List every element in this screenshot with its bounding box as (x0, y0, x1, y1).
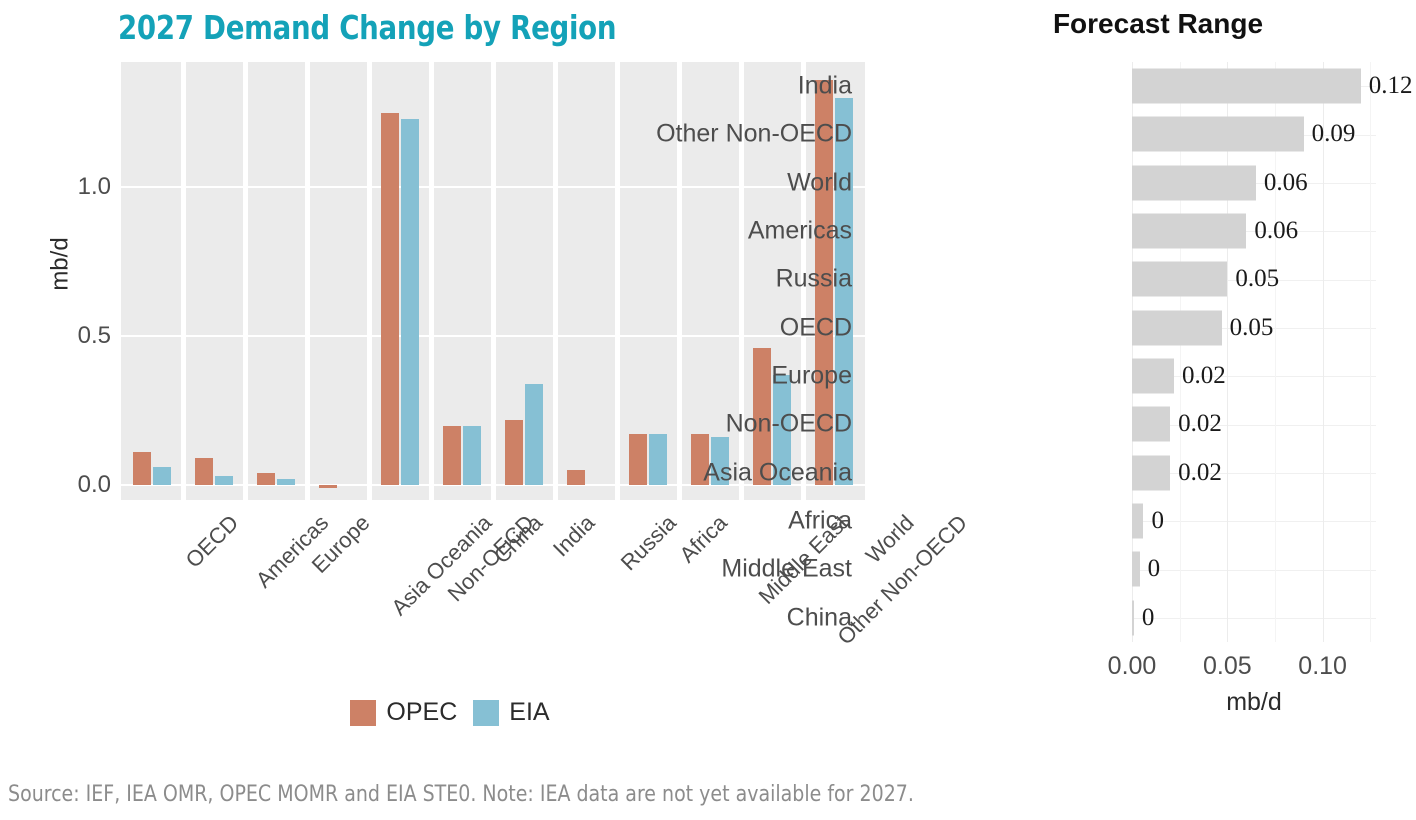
legend-swatch-opec (350, 700, 376, 726)
left-y-axis-ticks: 0.00.51.0 (45, 0, 111, 560)
right-bar-value-label: 0.05 (1230, 314, 1274, 342)
right-bar-value-label: 0 (1142, 604, 1155, 632)
right-bar-value-label: 0.02 (1182, 362, 1226, 390)
left-chart-panel: 2027 Demand Change by Region mb/d 0.00.5… (0, 0, 900, 760)
right-bar-value-label: 0 (1148, 555, 1161, 583)
right-bar-africa (1132, 504, 1143, 539)
bar-eia-americas (215, 476, 234, 485)
right-bar-india (1132, 69, 1361, 104)
right-category-label: Africa (788, 507, 852, 536)
right-category-label: Non-OECD (726, 410, 852, 439)
right-category-label: Middle East (721, 555, 852, 584)
left-y-tick: 0.5 (51, 322, 111, 350)
left-gridline-vertical (367, 62, 372, 500)
left-gridline-vertical (615, 62, 620, 500)
right-bar-row: 0.09Other Non-OECD (1132, 110, 1376, 158)
right-bar-row: 0.05Russia (1132, 255, 1376, 303)
right-bar-value-label: 0.06 (1254, 217, 1298, 245)
right-bar-europe (1132, 359, 1174, 394)
bar-eia-oecd (153, 467, 172, 485)
right-category-label: China (787, 603, 852, 632)
right-category-label: Asia Oceania (703, 458, 852, 487)
right-bar-world (1132, 165, 1256, 200)
right-bar-middle-east (1132, 552, 1140, 587)
right-bar-row: 0.12India (1132, 62, 1376, 110)
right-bar-americas (1132, 214, 1246, 249)
bar-opec-non-oecd (381, 113, 400, 485)
bar-opec-africa (629, 434, 648, 485)
right-bar-row: 0China (1132, 594, 1376, 642)
legend-swatch-eia (473, 700, 499, 726)
right-bar-row: 0.02Non-OECD (1132, 400, 1376, 448)
right-bar-non-oecd (1132, 407, 1170, 442)
right-chart-title: Forecast Range (900, 8, 1416, 40)
bar-eia-india (525, 384, 544, 485)
legend: OPEC EIA (0, 698, 900, 727)
right-category-label: Other Non-OECD (656, 120, 852, 149)
right-category-label: World (787, 168, 852, 197)
bar-opec-china (443, 426, 462, 486)
right-bar-row: 0.02Europe (1132, 352, 1376, 400)
left-x-tick: OECD (181, 510, 244, 573)
bar-opec-oecd (133, 452, 152, 485)
left-gridline-vertical (181, 62, 186, 500)
right-bar-china (1132, 600, 1134, 635)
left-gridline-vertical (243, 62, 248, 500)
right-x-tick: 0.00 (1108, 652, 1157, 681)
source-note: Source: IEF, IEA OMR, OPEC MOMR and EIA … (8, 782, 1352, 807)
legend-label-opec: OPEC (386, 698, 457, 727)
right-plot-area: 0.12India0.09Other Non-OECD0.06World0.06… (1132, 62, 1376, 642)
right-bar-row: 0.06Americas (1132, 207, 1376, 255)
left-x-tick: India (548, 510, 600, 562)
right-bar-value-label: 0.05 (1235, 265, 1279, 293)
left-gridline-vertical (553, 62, 558, 500)
right-bar-value-label: 0.09 (1312, 120, 1356, 148)
bar-opec-india (505, 420, 524, 486)
right-bar-row: 0Africa (1132, 497, 1376, 545)
right-category-label: Americas (748, 217, 852, 246)
legend-item-opec: OPEC (350, 698, 457, 727)
left-y-tick: 0.0 (51, 471, 111, 499)
right-bar-value-label: 0.06 (1264, 169, 1308, 197)
bar-opec-europe (257, 473, 276, 485)
bar-eia-non-oecd (401, 119, 420, 485)
legend-label-eia: EIA (509, 698, 549, 727)
legend-item-eia: EIA (473, 698, 549, 727)
right-category-label: Europe (771, 362, 852, 391)
right-bar-other-non-oecd (1132, 117, 1304, 152)
right-bar-row: 0Middle East (1132, 545, 1376, 593)
right-bar-value-label: 0.12 (1369, 72, 1413, 100)
bar-eia-china (463, 426, 482, 486)
bar-opec-asia-oceania (319, 485, 338, 488)
right-bar-row: 0.06World (1132, 159, 1376, 207)
left-x-tick: Russia (616, 510, 682, 576)
bar-opec-americas (195, 458, 214, 485)
right-category-label: Russia (776, 265, 852, 294)
left-gridline-vertical (305, 62, 310, 500)
left-y-tick: 1.0 (51, 173, 111, 201)
right-bar-asia-oceania (1132, 455, 1170, 490)
left-gridline-vertical (429, 62, 434, 500)
chart-canvas: 2027 Demand Change by Region mb/d 0.00.5… (0, 0, 1416, 820)
right-x-axis-label: mb/d (1132, 688, 1376, 717)
right-category-label: India (798, 72, 852, 101)
bar-opec-russia (567, 470, 586, 485)
right-bar-oecd (1132, 310, 1222, 345)
right-bar-value-label: 0 (1151, 507, 1164, 535)
right-x-tick: 0.05 (1203, 652, 1252, 681)
right-bar-value-label: 0.02 (1178, 459, 1222, 487)
right-category-label: OECD (780, 313, 852, 342)
left-gridline-vertical (491, 62, 496, 500)
right-bar-row: 0.05OECD (1132, 304, 1376, 352)
bar-eia-africa (649, 434, 668, 485)
left-chart-title: 2027 Demand Change by Region (118, 8, 825, 47)
right-chart-panel: Forecast Range 0.12India0.09Other Non-OE… (900, 0, 1416, 760)
right-x-tick: 0.10 (1298, 652, 1347, 681)
bar-eia-europe (277, 479, 296, 485)
right-bar-russia (1132, 262, 1227, 297)
right-bar-row: 0.02Asia Oceania (1132, 449, 1376, 497)
right-bar-value-label: 0.02 (1178, 410, 1222, 438)
